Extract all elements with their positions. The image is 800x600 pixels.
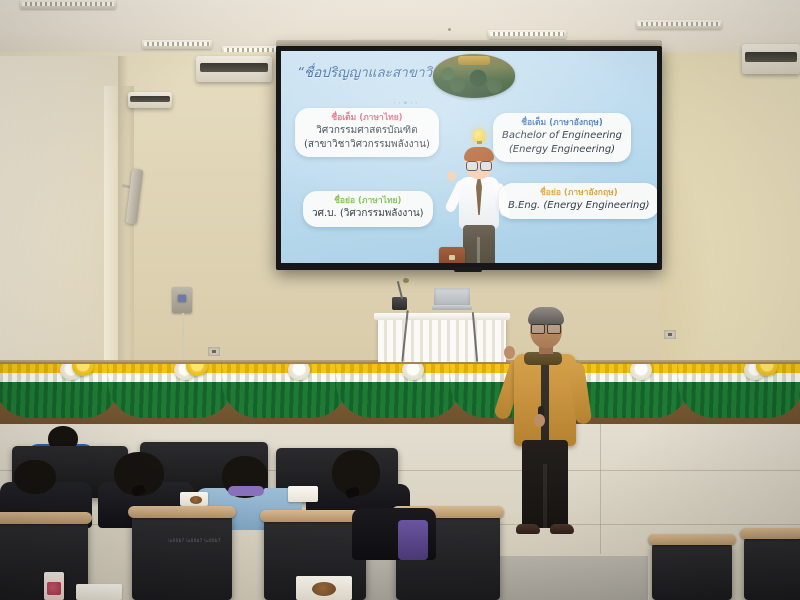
presenter-trousers bbox=[522, 440, 568, 528]
briefcase-icon bbox=[439, 247, 465, 263]
audience-seat-right[interactable] bbox=[744, 534, 800, 600]
drapery-swag bbox=[108, 364, 234, 420]
presenter-hand-right bbox=[534, 414, 545, 427]
cartoon-glasses bbox=[466, 161, 492, 169]
left-wall bbox=[0, 56, 118, 386]
lightbulb-icon bbox=[473, 129, 485, 143]
ceiling-light-strip bbox=[20, 0, 116, 9]
pastry bbox=[190, 496, 202, 504]
seat-armrest bbox=[648, 534, 736, 545]
bubble-header: ชื่อย่อ (ภาษาไทย) bbox=[312, 196, 424, 207]
presentation-slide: “ชื่อปริญญาและสาขาวิชา” ··•·· bbox=[281, 51, 657, 263]
microphone-head bbox=[403, 278, 409, 283]
presenter-table-skirt bbox=[378, 318, 506, 366]
bubble-line-1: B.Eng. (Energy Engineering) bbox=[508, 199, 650, 213]
presenter-glasses bbox=[531, 324, 561, 332]
presenter bbox=[498, 310, 590, 540]
paper-sheet bbox=[76, 584, 122, 600]
right-wall bbox=[660, 52, 800, 382]
bubble-header: ชื่อเต็ม (ภาษาอังกฤษ) bbox=[502, 118, 622, 129]
purple-bag bbox=[398, 520, 428, 560]
slide-bubble-english-full-name: ชื่อเต็ม (ภาษาอังกฤษ) Bachelor of Engine… bbox=[493, 113, 631, 162]
ceiling-fixture-dot bbox=[448, 28, 451, 31]
pastry bbox=[312, 582, 336, 596]
wall-conduit bbox=[182, 313, 184, 361]
bubble-line-1: วิศวกรรมศาสตรบัณฑิต bbox=[304, 124, 430, 138]
audience-person-purple-bag bbox=[352, 490, 444, 560]
audience-seat-right[interactable] bbox=[652, 540, 732, 600]
snack-box bbox=[44, 572, 64, 600]
ceiling-light-strip bbox=[636, 20, 722, 29]
air-conditioner-unit bbox=[742, 44, 800, 74]
laptop-screen bbox=[434, 288, 470, 306]
drapery-swag bbox=[678, 364, 800, 420]
drapery-swag bbox=[336, 364, 462, 420]
slide-bubble-english-abbreviation: ชื่อย่อ (ภาษาอังกฤษ) B.Eng. (Energy Engi… bbox=[499, 183, 657, 219]
air-conditioner-unit bbox=[196, 56, 272, 82]
slide-title: “ชื่อปริญญาและสาขาวิชา” bbox=[297, 61, 456, 83]
audience-seat-front[interactable] bbox=[132, 512, 232, 600]
screen-bottom-mount bbox=[454, 267, 482, 272]
power-outlet bbox=[208, 347, 220, 356]
slide-surface: “ชื่อปริญญาและสาขาวิชา” ··•·· bbox=[281, 51, 657, 263]
person-collar bbox=[228, 486, 264, 496]
bubble-header: ชื่อเต็ม (ภาษาไทย) bbox=[304, 113, 430, 124]
power-outlet bbox=[664, 330, 676, 339]
seat-armrest bbox=[0, 512, 92, 524]
presenter-hair bbox=[528, 307, 564, 325]
paper-sheet bbox=[288, 486, 318, 502]
cartoon-hand-left bbox=[447, 171, 456, 181]
lecture-hall-photo: “ชื่อปริญญาและสาขาวิชา” ··•·· bbox=[0, 0, 800, 600]
floor-tile-line bbox=[600, 424, 601, 554]
bubble-line-1: Bachelor of Engineering bbox=[502, 129, 622, 143]
wall-control-panel[interactable] bbox=[172, 287, 192, 313]
projector-screen: “ชื่อปริญญาและสาขาวิชา” ··•·· bbox=[276, 46, 662, 270]
presenter-shoe-right bbox=[550, 524, 574, 534]
cartoon-hair bbox=[464, 147, 494, 161]
bubble-line-2: (สาขาวิชาวิศวกรรมพลังงาน) bbox=[304, 138, 430, 152]
slide-bubble-thai-abbreviation: ชื่อย่อ (ภาษาไทย) วศ.บ. (วิศวกรรมพลังงาน… bbox=[303, 191, 433, 227]
bubble-line-1: วศ.บ. (วิศวกรรมพลังงาน) bbox=[312, 207, 424, 221]
graduation-photo bbox=[433, 54, 515, 98]
presenter-shoe-left bbox=[516, 524, 540, 534]
presenter-table-top bbox=[374, 313, 510, 320]
laptop-keyboard bbox=[432, 305, 472, 310]
seat-armrest bbox=[128, 506, 236, 518]
microphone-base bbox=[392, 297, 407, 310]
seat-label: \u00b7 \u00b7 \u00b7 bbox=[168, 538, 221, 543]
presenter-jacket bbox=[514, 354, 576, 446]
person-head bbox=[14, 460, 56, 494]
seat-armrest bbox=[740, 528, 800, 539]
cartoon-legs bbox=[463, 225, 495, 263]
bubble-line-2: (Energy Engineering) bbox=[502, 143, 622, 157]
drapery-swag bbox=[222, 364, 348, 420]
ceiling-light-strip bbox=[488, 30, 566, 39]
presenter-hand-left bbox=[504, 346, 515, 359]
slide-bubble-thai-full-name: ชื่อเต็ม (ภาษาไทย) วิศวกรรมศาสตรบัณฑิต (… bbox=[295, 108, 439, 157]
ceiling-light-strip bbox=[142, 40, 212, 49]
air-conditioner-unit bbox=[128, 92, 172, 108]
stage-drapery bbox=[0, 364, 800, 422]
bubble-header: ชื่อย่อ (ภาษาอังกฤษ) bbox=[508, 188, 650, 199]
